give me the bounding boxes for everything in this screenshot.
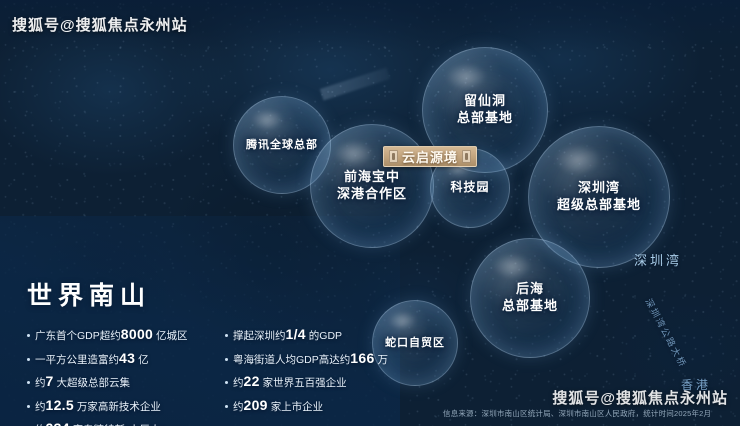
list-item: 粤海街道人均GDP高达约166 万 [225, 350, 375, 368]
list-item: 广东首个GDP超约8000 亿城区 [27, 326, 215, 344]
bullet-dot-icon [27, 334, 30, 337]
map-bubble-label: 前海宝中 深港合作区 [337, 169, 407, 202]
map-bubble-label: 科技园 [450, 180, 489, 195]
bullet-dot-icon [27, 381, 30, 384]
bubble-line-1: 前海宝中 [344, 169, 400, 184]
bullet-column-left: 广东首个GDP超约8000 亿城区 一平方公里造富约43 亿 约7 大超级总部云… [27, 326, 215, 426]
bullet-prefix: 广东首个GDP超约 [35, 330, 121, 342]
bubble-line-1: 蛇口自贸区 [385, 337, 445, 349]
bullet-suffix: 大超级总部云集 [57, 377, 131, 389]
list-item: 约22 家世界五百强企业 [225, 373, 375, 391]
map-bubble-label: 深圳湾 超级总部基地 [557, 180, 641, 213]
map-bubble-label: 蛇口自贸区 [385, 336, 445, 350]
bullet-prefix: 约 [35, 401, 46, 413]
source-note: 信息来源：深圳市南山区统计局、深圳市南山区人民政府，统计时间2025年2月 [443, 408, 711, 419]
bullet-number: 166 [350, 350, 374, 366]
bullet-prefix: 约 [233, 401, 244, 413]
bullet-number: 12.5 [46, 397, 74, 413]
list-item: 约12.5 万家高新技术企业 [27, 397, 215, 415]
bubble-line-1: 后海 [516, 281, 544, 296]
bubble-line-1: 深圳湾 [578, 180, 620, 195]
badge-left-seal-icon [389, 150, 398, 163]
bubble-line-2: 总部基地 [457, 110, 513, 125]
badge-right-seal-icon [462, 150, 471, 163]
bullet-column-right: 撑起深圳约1/4 的GDP 粤海街道人均GDP高达约166 万 约22 家世界五… [225, 326, 375, 426]
bullet-prefix: 约 [233, 377, 244, 389]
bullet-number: 7 [46, 373, 54, 389]
map-annotation-shenzhen-bay: 深圳湾 [634, 250, 682, 269]
bullet-number: 43 [119, 350, 135, 366]
bullet-suffix: 亿 [138, 354, 149, 366]
list-item: 约234 家专精特新"小巨人" [27, 420, 215, 426]
bullet-number: 1/4 [286, 326, 306, 342]
bullet-dot-icon [225, 405, 228, 408]
bullet-number: 8000 [121, 326, 153, 342]
map-bubble-qianhai-baozhong[interactable]: 前海宝中 深港合作区 [310, 124, 434, 248]
list-item: 约7 大超级总部云集 [27, 373, 215, 391]
bullet-prefix: 撑起深圳约 [233, 330, 286, 342]
info-panel: 世界南山 广东首个GDP超约8000 亿城区 一平方公里造富约43 亿 约7 大… [27, 276, 375, 426]
page-title: 世界南山 [27, 276, 375, 312]
list-item: 撑起深圳约1/4 的GDP [225, 326, 375, 344]
bullet-prefix: 粤海街道人均GDP高达约 [233, 354, 350, 366]
map-bubble-label: 腾讯全球总部 [246, 138, 318, 152]
bullet-prefix: 一平方公里造富约 [35, 354, 119, 366]
watermark-top: 搜狐号@搜狐焦点永州站 [12, 14, 188, 35]
bubble-line-2: 超级总部基地 [557, 197, 641, 212]
bubble-line-2: 深港合作区 [337, 186, 407, 201]
map-bubble-label: 后海 总部基地 [502, 281, 558, 314]
badge-label: 云启源境 [402, 147, 458, 166]
bullet-suffix: 的GDP [309, 330, 342, 342]
project-badge[interactable]: 云启源境 [383, 146, 477, 167]
bullet-dot-icon [27, 358, 30, 361]
bubble-line-1: 留仙洞 [464, 93, 506, 108]
bullet-suffix: 万家高新技术企业 [77, 401, 161, 413]
bullet-dot-icon [225, 334, 228, 337]
bullet-number: 209 [244, 397, 268, 413]
map-bubble-shekou-free-trade-zone[interactable]: 蛇口自贸区 [372, 300, 458, 386]
bullet-suffix: 亿城区 [156, 330, 188, 342]
list-item: 一平方公里造富约43 亿 [27, 350, 215, 368]
bullet-prefix: 约 [35, 377, 46, 389]
map-bubble-label: 留仙洞 总部基地 [457, 93, 513, 126]
bullet-suffix: 家上市企业 [271, 401, 324, 413]
bullet-number: 234 [46, 420, 70, 426]
bullet-dot-icon [225, 381, 228, 384]
bubble-line-2: 总部基地 [502, 298, 558, 313]
bullet-dot-icon [27, 405, 30, 408]
watermark-bottom: 搜狐号@搜狐焦点永州站 [552, 387, 728, 408]
bullet-dot-icon [225, 358, 228, 361]
list-item: 约209 家上市企业 [225, 397, 375, 415]
screenshot-canvas: 留仙洞 总部基地 腾讯全球总部 前海宝中 深港合作区 科技园 深圳湾 超级总部基… [0, 0, 740, 426]
bubble-line-1: 科技园 [450, 180, 489, 194]
bullet-suffix: 万 [377, 354, 388, 366]
map-bubble-houhai[interactable]: 后海 总部基地 [470, 238, 590, 358]
bullet-suffix: 家世界五百强企业 [263, 377, 347, 389]
bubble-line-1: 腾讯全球总部 [246, 139, 318, 151]
bullet-number: 22 [244, 373, 260, 389]
bullet-columns: 广东首个GDP超约8000 亿城区 一平方公里造富约43 亿 约7 大超级总部云… [27, 326, 375, 426]
